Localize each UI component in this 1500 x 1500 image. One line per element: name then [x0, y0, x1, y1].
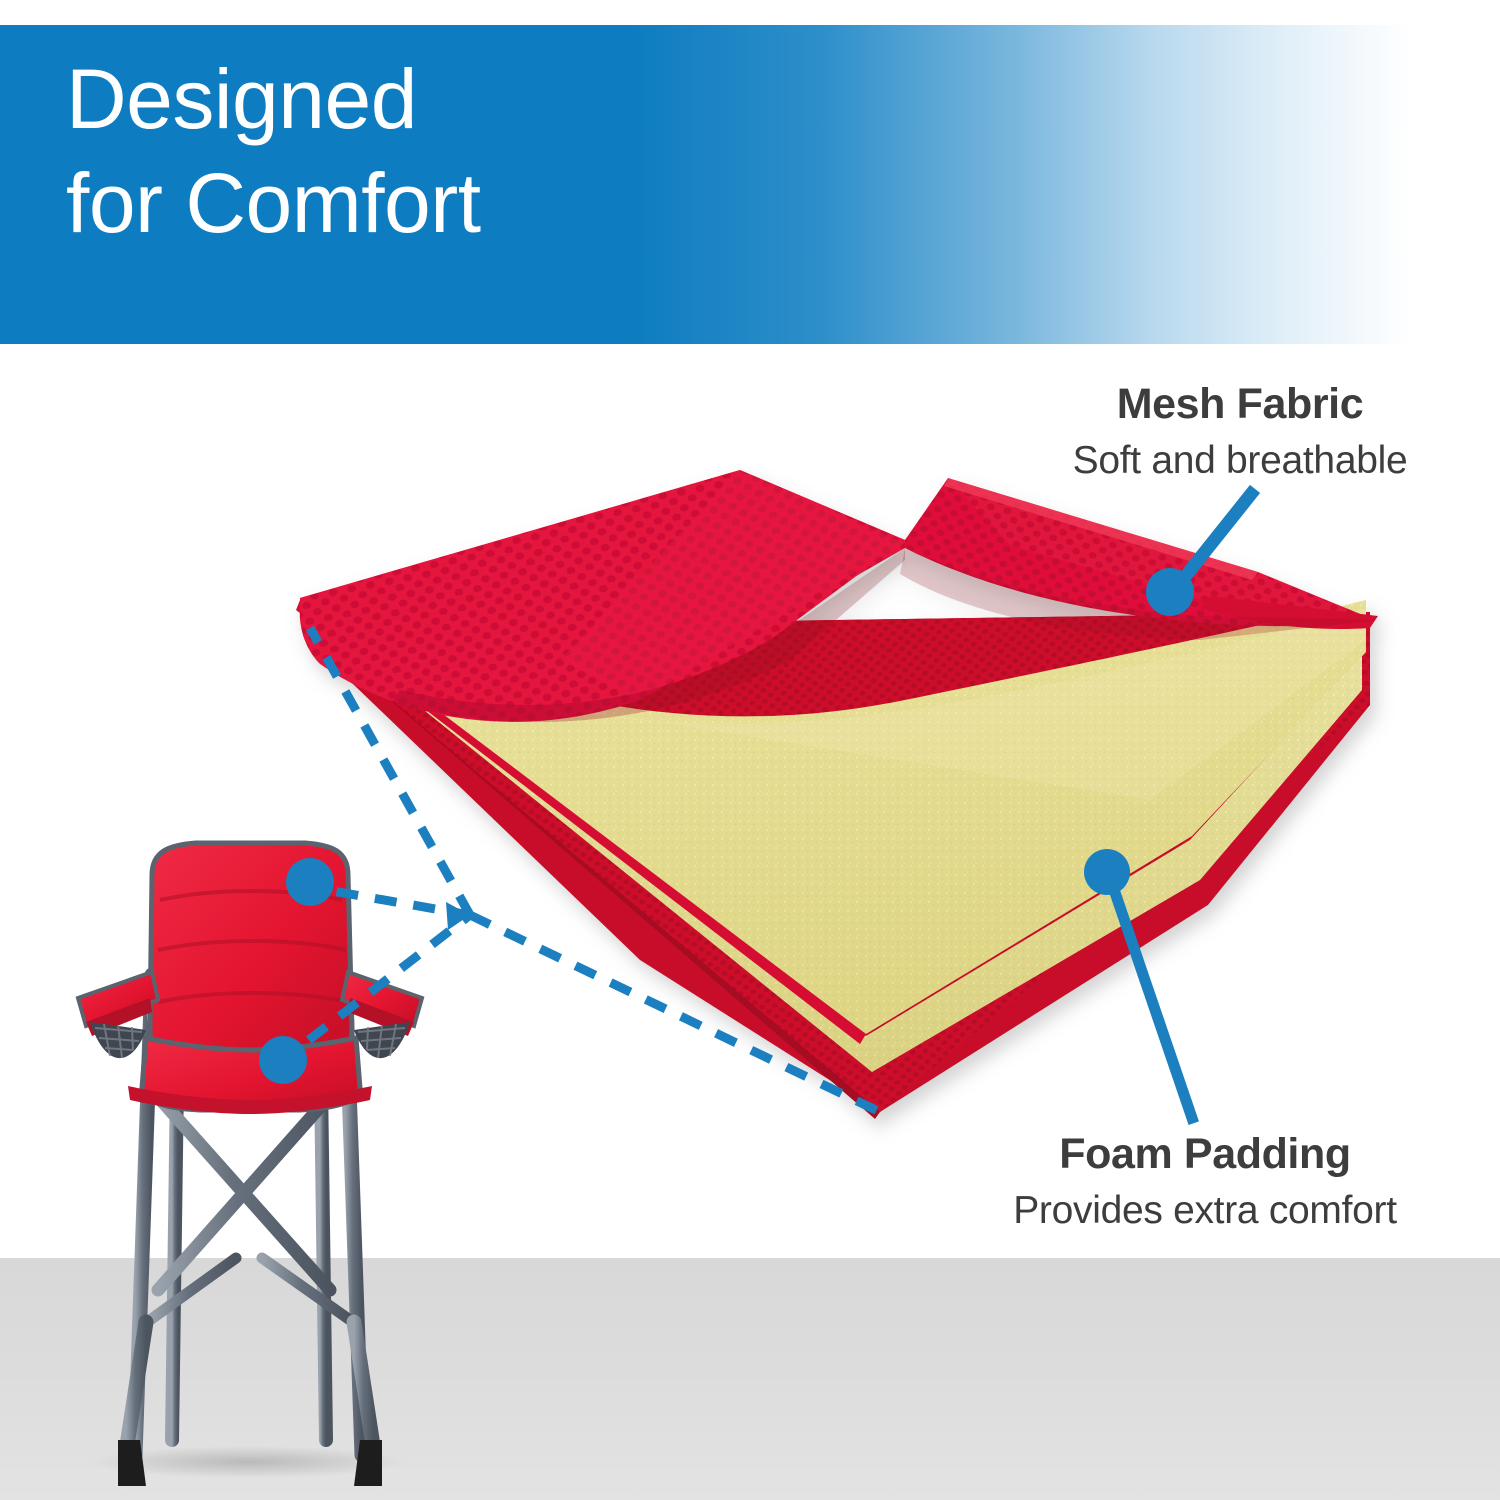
page-title: Designed for Comfort — [66, 47, 966, 255]
callout-title: Foam Padding — [945, 1128, 1465, 1180]
chair-padded-fabric — [78, 843, 422, 1114]
callout-subtitle: Provides extra comfort — [945, 1185, 1465, 1237]
product-feature-graphic: Designed for Comfort Mesh Fabric Soft an… — [0, 0, 1500, 1500]
callout-foam-padding: Foam Padding Provides extra comfort — [945, 1128, 1465, 1237]
header-banner: Designed for Comfort — [0, 25, 1500, 344]
chair-seat-marker — [259, 1036, 307, 1084]
chair-backrest-marker — [286, 858, 334, 906]
callout-title: Mesh Fabric — [990, 378, 1490, 430]
padding-cutaway-illustration — [296, 470, 1378, 1119]
camp-chair-illustration — [78, 843, 422, 1486]
callout-mesh-fabric: Mesh Fabric Soft and breathable — [990, 378, 1490, 487]
callout-subtitle: Soft and breathable — [990, 435, 1490, 487]
